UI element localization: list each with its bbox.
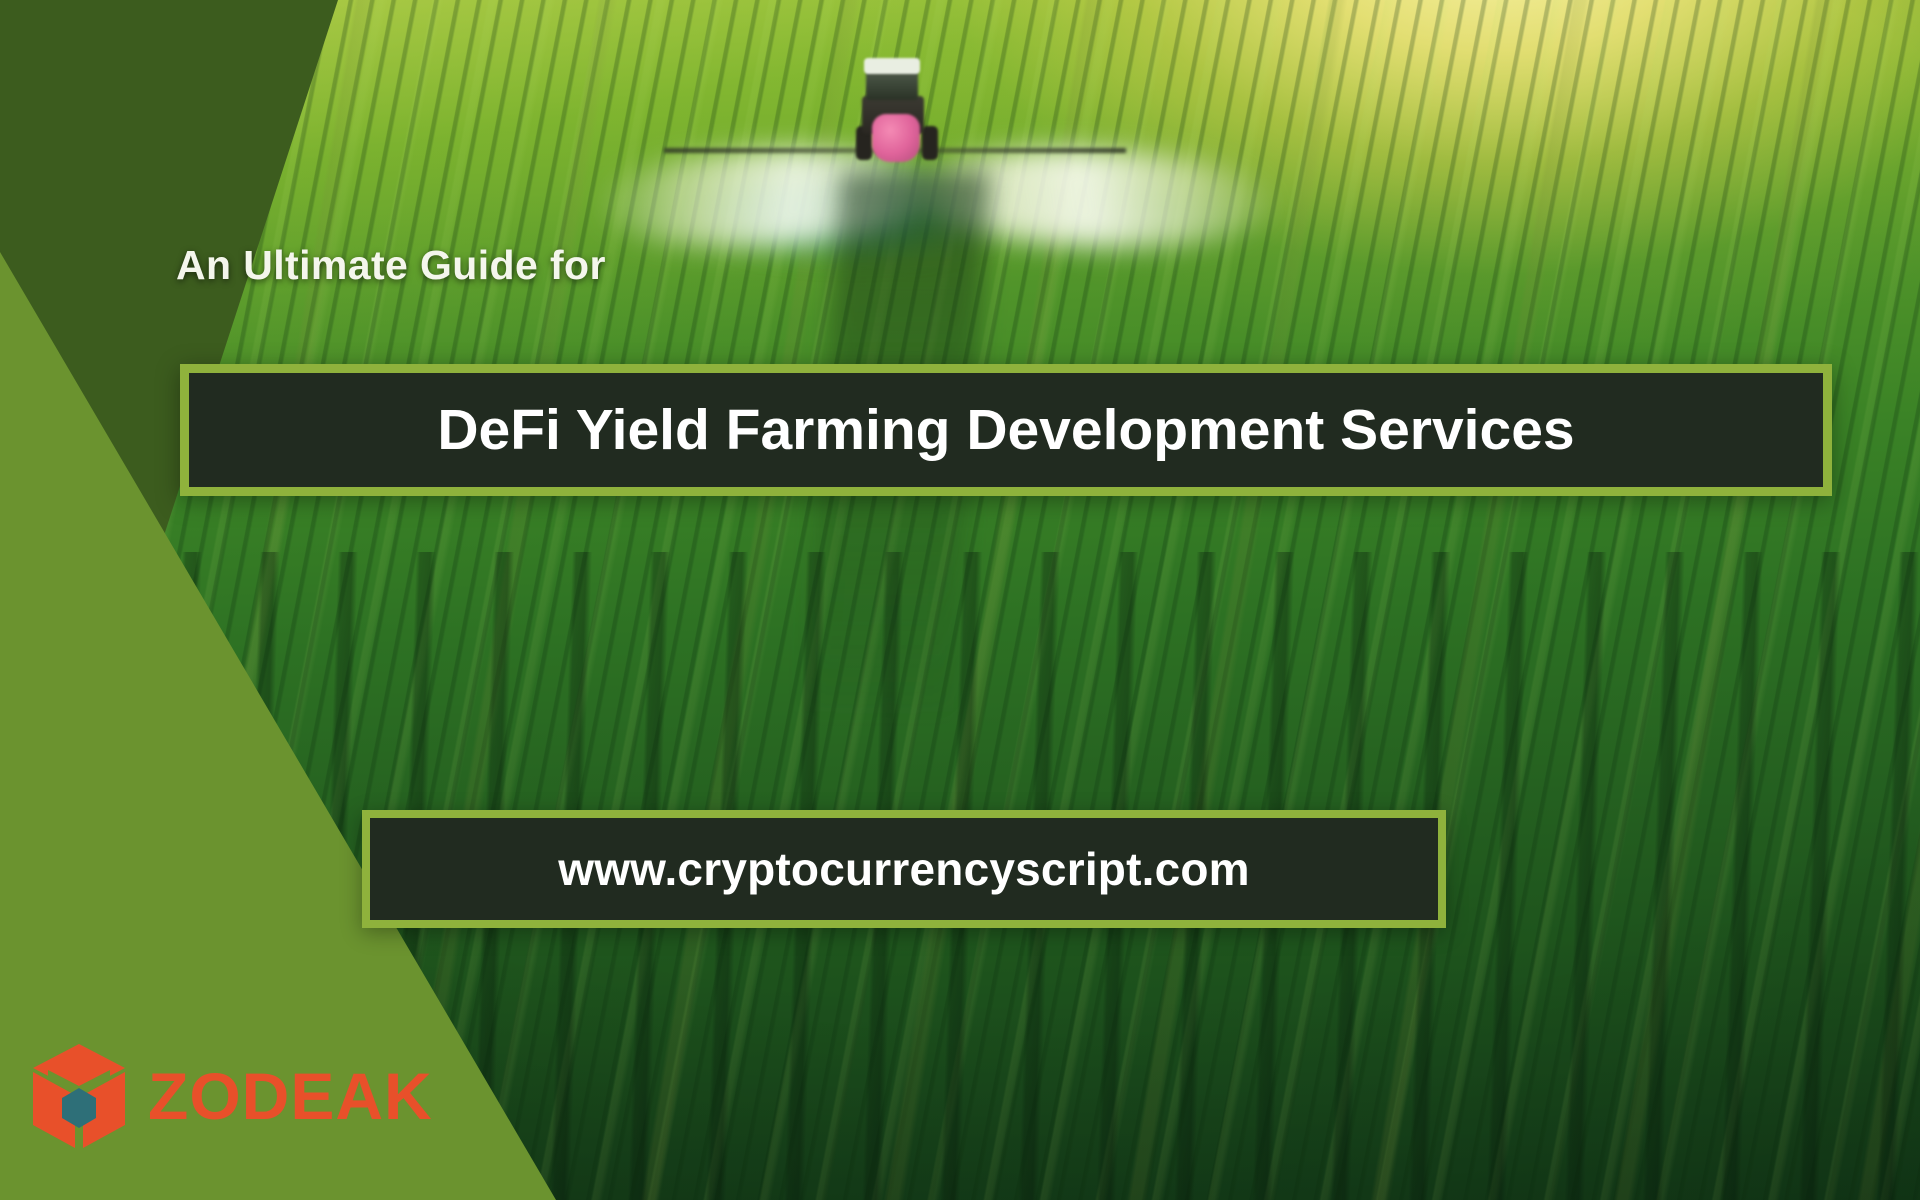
zodeak-logo[interactable]: ZODEAK	[24, 1040, 433, 1152]
zodeak-wordmark: ZODEAK	[148, 1063, 433, 1129]
website-url-banner[interactable]: www.cryptocurrencyscript.com	[362, 810, 1446, 928]
cube-hexagon-icon	[24, 1040, 134, 1152]
tagline-text: An Ultimate Guide for	[176, 242, 606, 289]
page-title: DeFi Yield Farming Development Services	[437, 402, 1574, 459]
website-url-text: www.cryptocurrencyscript.com	[558, 846, 1250, 892]
title-banner: DeFi Yield Farming Development Services	[180, 364, 1832, 496]
promotional-banner: An Ultimate Guide for DeFi Yield Farming…	[0, 0, 1920, 1200]
